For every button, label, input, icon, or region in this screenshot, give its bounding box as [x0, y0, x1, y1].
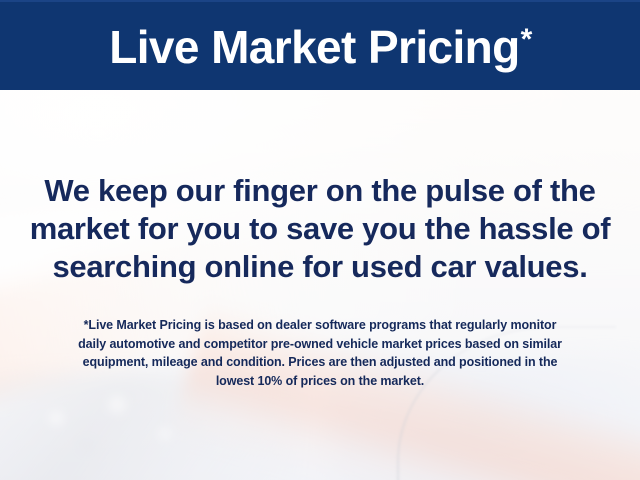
live-market-pricing-graphic: Live Market Pricing* We keep our finger … — [0, 0, 640, 480]
fineprint-line-4: lowest 10% of prices on the market. — [25, 372, 615, 391]
headline-line-1: We keep our finger on the pulse of the — [0, 172, 640, 210]
fineprint-line-1: *Live Market Pricing is based on dealer … — [25, 316, 615, 335]
headline-line-3: searching online for used car values. — [0, 248, 640, 286]
headline: We keep our finger on the pulse of the m… — [0, 172, 640, 286]
disclaimer-fineprint: *Live Market Pricing is based on dealer … — [25, 316, 615, 390]
fineprint-line-2: daily automotive and competitor pre-owne… — [25, 335, 615, 354]
header-banner: Live Market Pricing* — [0, 0, 640, 90]
banner-title-text: Live Market Pricing — [109, 21, 519, 73]
banner-title-asterisk: * — [521, 23, 532, 56]
fineprint-line-3: equipment, mileage and condition. Prices… — [25, 353, 615, 372]
banner-title: Live Market Pricing* — [109, 24, 531, 70]
headline-line-2: market for you to save you the hassle of — [0, 210, 640, 248]
